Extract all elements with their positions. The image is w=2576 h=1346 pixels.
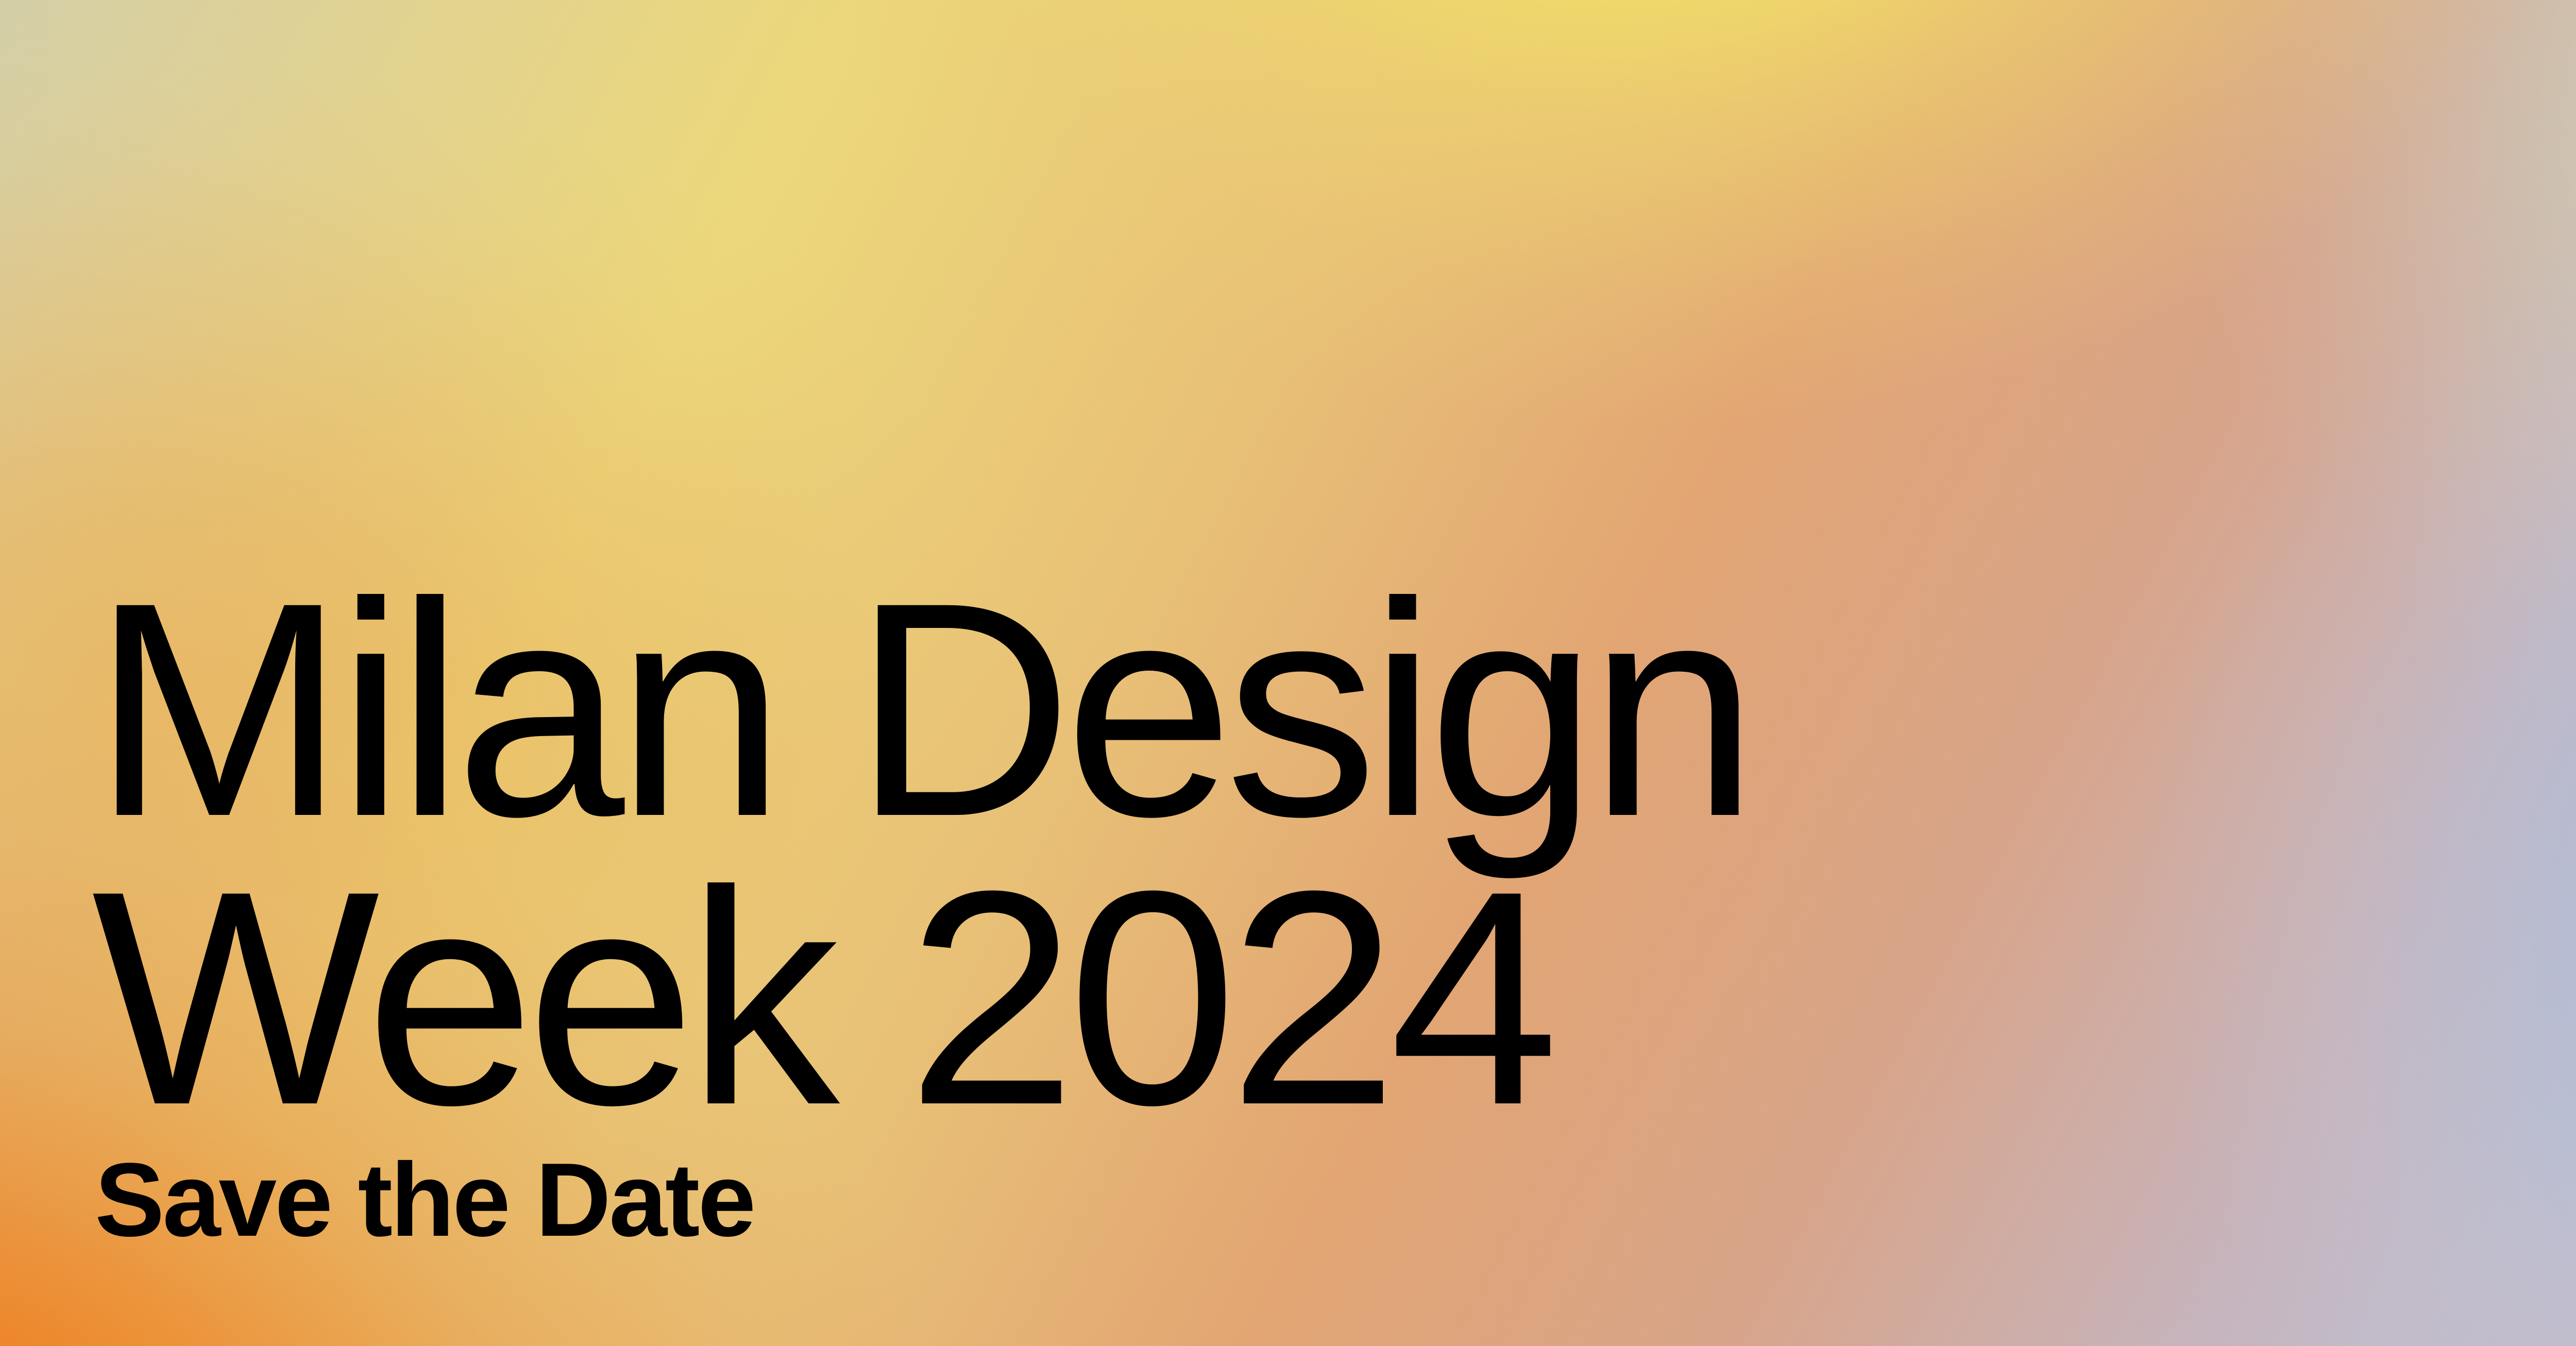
headline-line-1: Milan Design	[92, 566, 1750, 854]
tagline: Save the Date	[95, 1148, 754, 1252]
poster-content: Milan DesignWeek 2024 Save the Date	[0, 0, 2576, 1346]
poster-canvas: Milan DesignWeek 2024 Save the Date	[0, 0, 2576, 1346]
headline-line-2: Week 2024	[92, 854, 1750, 1143]
